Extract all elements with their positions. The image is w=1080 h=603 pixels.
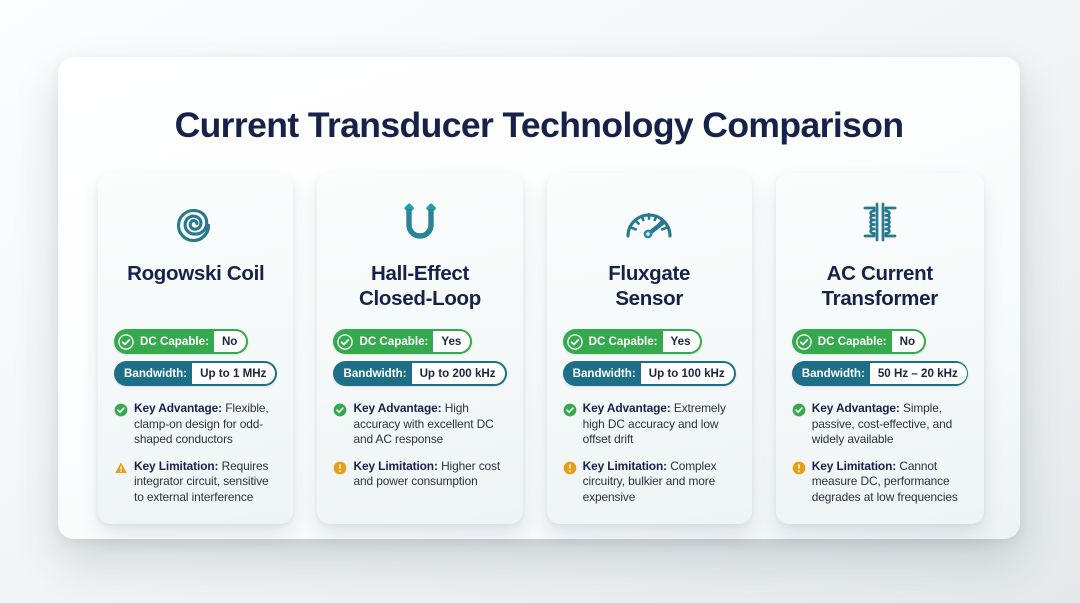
card-title-line: Rogowski Coil [114,261,277,286]
advantage-label: Key Advantage: [134,401,222,415]
bandwidth-label: Bandwidth: [114,361,192,386]
bandwidth-value: Up to 200 kHz [412,363,505,384]
bandwidth-badge: Bandwidth: Up to 200 kHz [333,361,506,386]
gauge-icon [563,193,736,251]
advantage-row: Key Advantage: Extremely high DC accurac… [563,401,736,448]
dc-capable-value: No [214,331,246,352]
advantage-label: Key Advantage: [353,401,441,415]
dc-capable-value: Yes [433,331,470,352]
horseshoe-magnet-icon [333,193,506,251]
dc-capable-badge: DC Capable: Yes [563,329,702,354]
advantage-row: Key Advantage: High accuracy with excell… [333,401,506,448]
fact-list: Key Advantage: Extremely high DC accurac… [563,401,736,506]
bandwidth-badge: Bandwidth: 50 Hz – 20 kHz [792,361,968,386]
limitation-text: Key Limitation: Higher cost and power co… [353,459,506,490]
dc-capable-label: DC Capable: [355,329,433,354]
check-circle-icon [114,403,128,417]
limitation-row: Key Limitation: Higher cost and power co… [333,459,506,490]
dc-capable-value: Yes [663,331,700,352]
check-circle-icon [333,329,355,354]
exclamation-circle-icon [563,461,577,475]
advantage-row: Key Advantage: Flexible, clamp-on design… [114,401,277,448]
bandwidth-label: Bandwidth: [792,361,870,386]
fact-list: Key Advantage: Simple, passive, cost-eff… [792,401,968,506]
screenshot-root: Current Transducer Technology Comparison… [0,0,1080,603]
limitation-label: Key Limitation: [353,459,437,473]
bandwidth-value: Up to 1 MHz [192,363,275,384]
limitation-label: Key Limitation: [812,459,896,473]
dc-capable-value: No [892,331,924,352]
limitation-row: Key Limitation: Requires integrator circ… [114,459,277,506]
limitation-label: Key Limitation: [583,459,667,473]
card-title-line: Sensor [563,286,736,311]
limitation-row: Key Limitation: Cannot measure DC, perfo… [792,459,968,506]
card-title: Hall-Effect Closed-Loop [333,261,506,311]
check-circle-icon [792,403,806,417]
advantage-label: Key Advantage: [812,401,900,415]
limitation-text: Key Limitation: Cannot measure DC, perfo… [812,459,968,506]
card-title-line: Hall-Effect [333,261,506,286]
advantage-text: Key Advantage: High accuracy with excell… [353,401,506,448]
transformer-icon [792,193,968,251]
bandwidth-badge: Bandwidth: Up to 1 MHz [114,361,277,386]
advantage-row: Key Advantage: Simple, passive, cost-eff… [792,401,968,448]
dc-capable-badge: DC Capable: No [792,329,926,354]
fact-list: Key Advantage: High accuracy with excell… [333,401,506,490]
card-row: Rogowski Coil DC Capable: No Bandwidth: … [98,173,980,524]
dc-capable-badge: DC Capable: No [114,329,248,354]
limitation-label: Key Limitation: [134,459,218,473]
limitation-row: Key Limitation: Complex circuitry, bulki… [563,459,736,506]
limitation-text: Key Limitation: Complex circuitry, bulki… [583,459,736,506]
card-title: Rogowski Coil [114,261,277,311]
card-title: AC Current Transformer [792,261,968,311]
card-title-line: Closed-Loop [333,286,506,311]
limitation-text: Key Limitation: Requires integrator circ… [134,459,277,506]
comparison-panel: Current Transducer Technology Comparison… [58,57,1020,539]
technology-card[interactable]: Hall-Effect Closed-Loop DC Capable: Yes … [317,173,522,524]
check-circle-icon [792,329,814,354]
card-title-line: Fluxgate [563,261,736,286]
bandwidth-value: Up to 100 kHz [641,363,734,384]
check-circle-icon [333,403,347,417]
exclamation-circle-icon [792,461,806,475]
card-title: Fluxgate Sensor [563,261,736,311]
card-title-line: AC Current [792,261,968,286]
advantage-text: Key Advantage: Flexible, clamp-on design… [134,401,277,448]
dc-capable-label: DC Capable: [585,329,663,354]
advantage-label: Key Advantage: [583,401,671,415]
dc-capable-label: DC Capable: [814,329,892,354]
check-circle-icon [563,403,577,417]
technology-card[interactable]: Rogowski Coil DC Capable: No Bandwidth: … [98,173,293,524]
bandwidth-label: Bandwidth: [333,361,411,386]
dc-capable-badge: DC Capable: Yes [333,329,472,354]
card-title-line: Transformer [792,286,968,311]
check-circle-icon [563,329,585,354]
warning-triangle-icon [114,461,128,475]
bandwidth-label: Bandwidth: [563,361,641,386]
advantage-text: Key Advantage: Simple, passive, cost-eff… [812,401,968,448]
spiral-coil-icon [114,193,277,251]
technology-card[interactable]: Fluxgate Sensor DC Capable: Yes Bandwidt… [547,173,752,524]
dc-capable-label: DC Capable: [136,329,214,354]
exclamation-circle-icon [333,461,347,475]
technology-card[interactable]: AC Current Transformer DC Capable: No Ba… [776,173,984,524]
check-circle-icon [114,329,136,354]
bandwidth-badge: Bandwidth: Up to 100 kHz [563,361,736,386]
advantage-text: Key Advantage: Extremely high DC accurac… [583,401,736,448]
fact-list: Key Advantage: Flexible, clamp-on design… [114,401,277,506]
bandwidth-value: 50 Hz – 20 kHz [870,363,967,384]
page-title: Current Transducer Technology Comparison [58,105,1020,146]
